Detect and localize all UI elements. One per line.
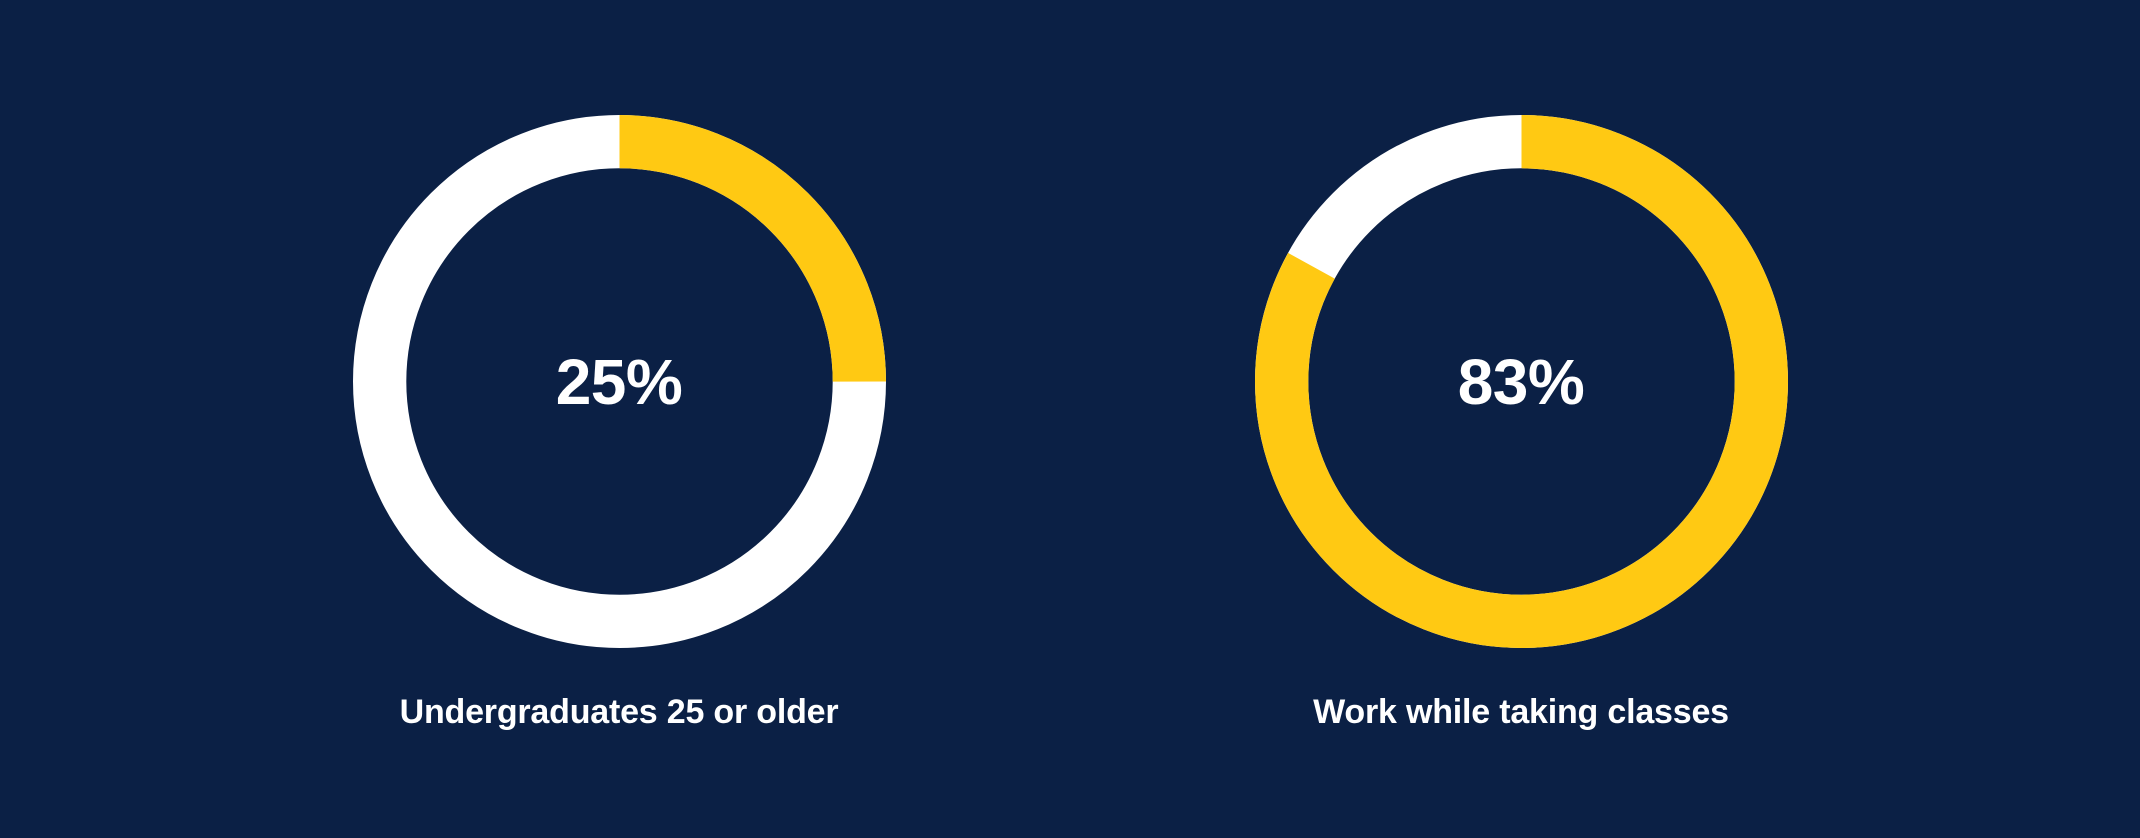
donut-svg-undergraduates — [353, 115, 886, 648]
stat-block-undergraduates: 25% Undergraduates 25 or older — [168, 0, 1070, 838]
stat-block-working-students: 83% Work while taking classes — [1070, 0, 1972, 838]
donut-chart-working-students: 83% — [1255, 115, 1788, 648]
stat-caption-working-students: Work while taking classes — [1313, 694, 1729, 731]
donut-chart-undergraduates: 25% — [353, 115, 886, 648]
donut-svg-working-students — [1255, 115, 1788, 648]
stat-caption-undergraduates: Undergraduates 25 or older — [400, 694, 839, 731]
stats-panel: 25% Undergraduates 25 or older 83% Work … — [0, 0, 2140, 838]
